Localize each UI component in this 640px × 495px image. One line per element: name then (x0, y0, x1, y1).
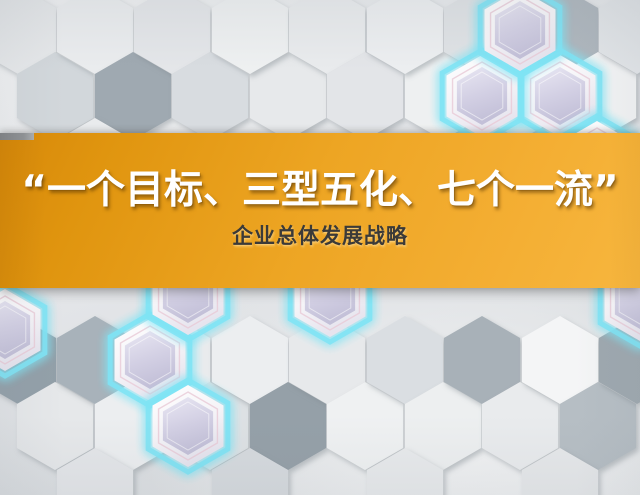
page-subtitle: 企业总体发展战略 (232, 220, 408, 250)
glow-hex-bottom-3 (148, 380, 228, 472)
banner-text-group: “一个目标、三型五化、七个一流” 企业总体发展战略 (0, 133, 640, 288)
page-title: “一个目标、三型五化、七个一流” (21, 171, 618, 212)
slide-canvas: “一个目标、三型五化、七个一流” 企业总体发展战略 (0, 0, 640, 495)
title-banner: “一个目标、三型五化、七个一流” 企业总体发展战略 (0, 133, 640, 288)
